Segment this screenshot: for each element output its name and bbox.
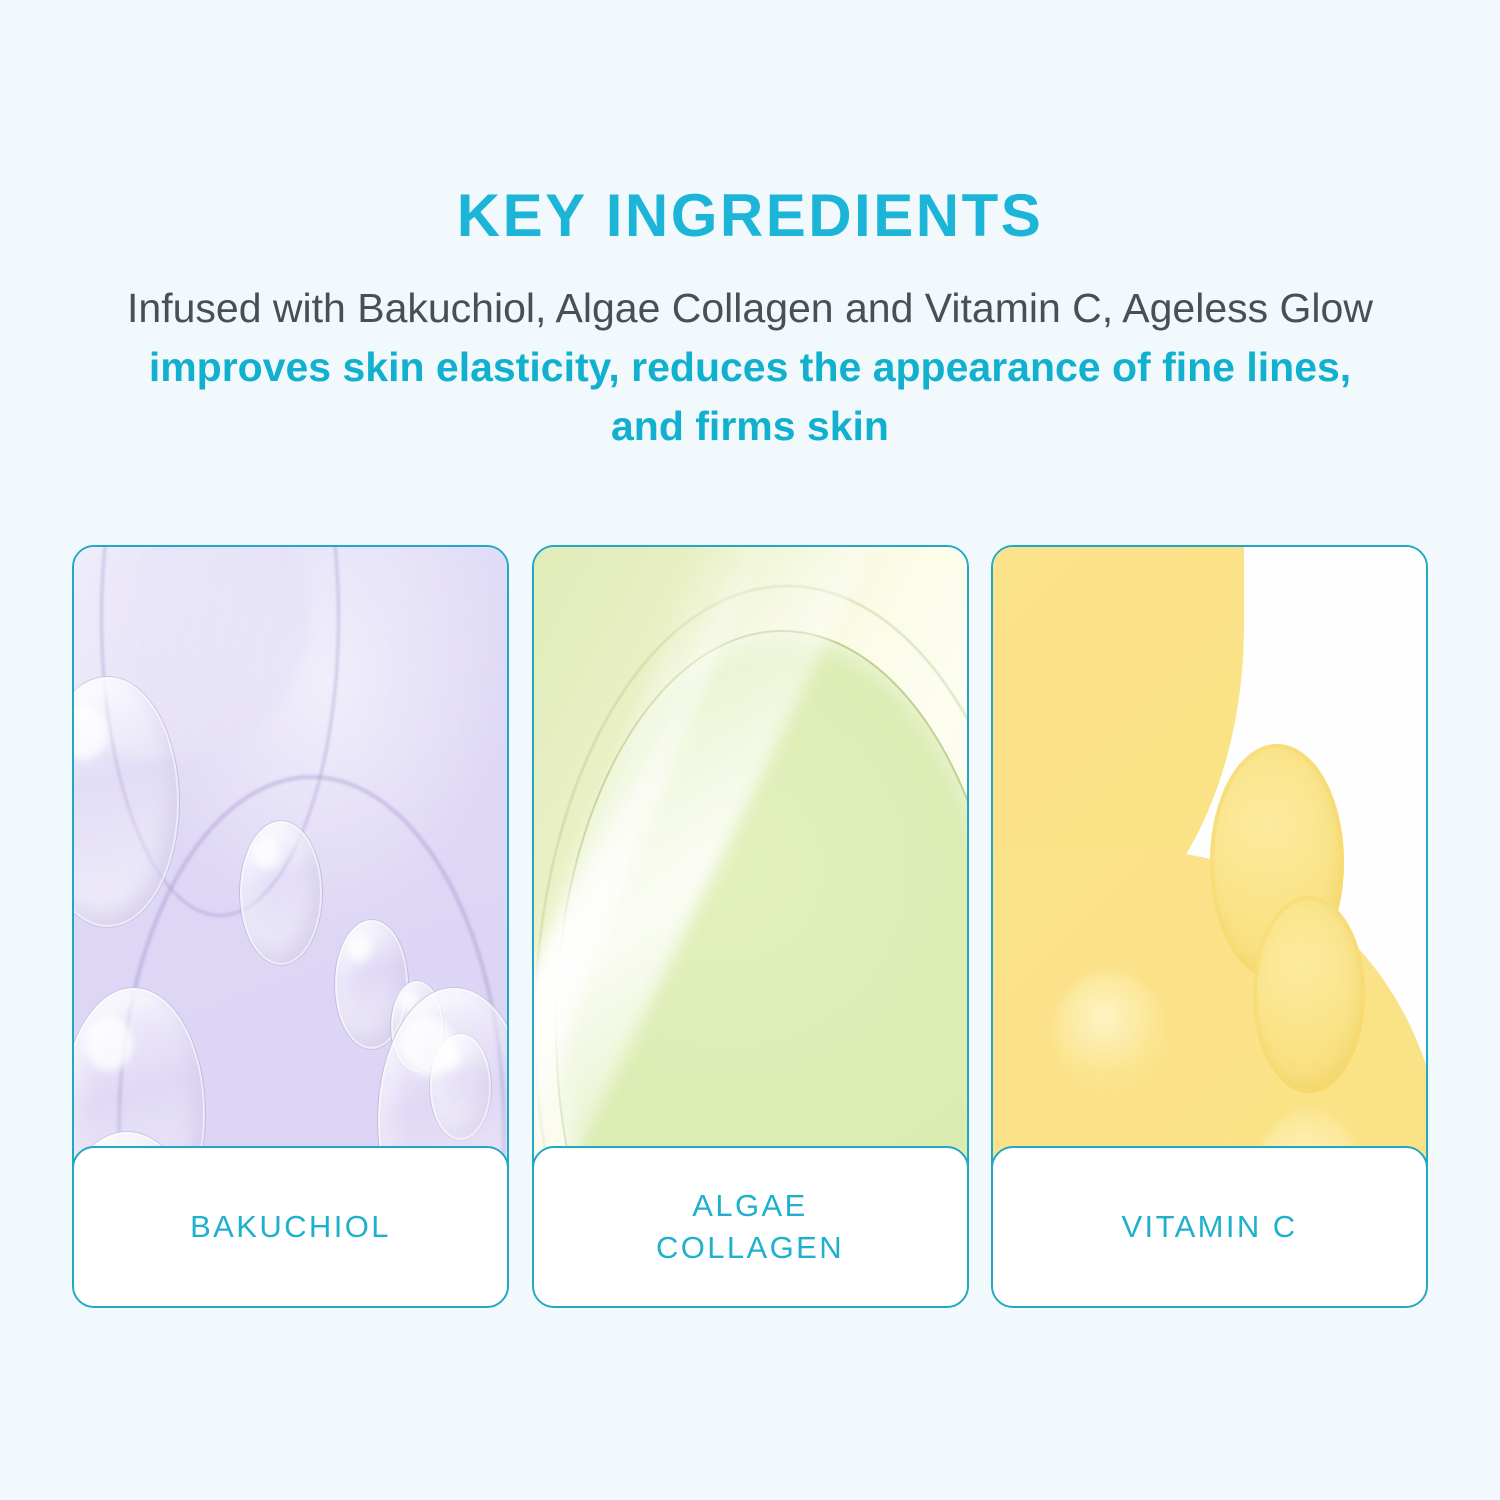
ingredient-card-bakuchiol[interactable]: BAKUCHIOL [72,545,509,1308]
purple-serum-bubbles-texture: BAKUCHIOL [74,547,507,1306]
ingredient-name-bakuchiol: BAKUCHIOL [190,1206,391,1248]
ingredient-card-algae-collagen[interactable]: ALGAE COLLAGEN [532,545,969,1308]
ingredient-card-grid: BAKUCHIOL ALGAE COLLAGEN VITAMIN C [72,545,1428,1308]
subtitle-highlight-text: improves skin elasticity, reduces the ap… [149,344,1351,449]
page-title: KEY INGREDIENTS [0,0,1500,247]
green-serum-droplet-texture: ALGAE COLLAGEN [534,547,967,1306]
ingredient-name-algae-collagen: ALGAE COLLAGEN [656,1185,844,1269]
card-label-panel: VITAMIN C [993,1146,1426,1306]
header: KEY INGREDIENTS Infused with Bakuchiol, … [0,0,1500,456]
ingredient-card-vitamin-c[interactable]: VITAMIN C [991,545,1428,1308]
ingredient-name-vitamin-c: VITAMIN C [1121,1206,1297,1248]
yellow-oil-droplets-texture: VITAMIN C [993,547,1426,1306]
card-label-panel: ALGAE COLLAGEN [534,1146,967,1306]
card-label-panel: BAKUCHIOL [74,1146,507,1306]
page-subtitle: Infused with Bakuchiol, Algae Collagen a… [120,247,1380,456]
subtitle-plain-text: Infused with Bakuchiol, Algae Collagen a… [127,285,1373,331]
